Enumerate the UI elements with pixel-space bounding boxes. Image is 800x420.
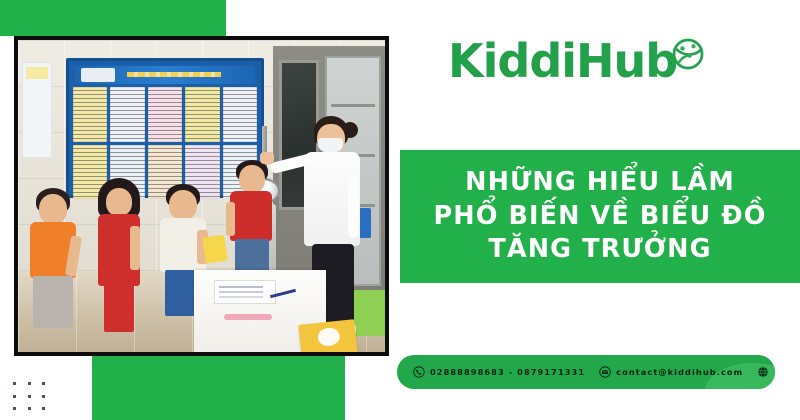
photo-yellow-folder xyxy=(298,319,357,352)
footer-email[interactable]: contact@kiddihub.com xyxy=(599,366,743,378)
footer-phone-text: 02888898683 - 0879171331 xyxy=(430,367,585,377)
phone-icon xyxy=(413,366,425,378)
child-arm xyxy=(226,202,235,236)
decor-dot xyxy=(42,382,45,385)
photo-poster xyxy=(223,87,257,142)
child-legs xyxy=(33,276,73,328)
decor-dot xyxy=(13,407,16,410)
photo-yellow-card xyxy=(202,235,227,264)
nurse-lowered-arm xyxy=(348,176,359,238)
child-torso xyxy=(230,191,272,241)
photo-table xyxy=(194,270,326,352)
photo-child-orange-shirt xyxy=(24,188,86,352)
decor-top-green-bar xyxy=(0,0,226,36)
decor-dot-grid xyxy=(8,377,52,415)
brand-logo-text: KiddiHub xyxy=(448,38,677,84)
decor-dot xyxy=(28,407,31,410)
page-title: NHỮNG HIỂU LẦM PHỔ BIẾN VỀ BIỂU ĐỒ TĂNG … xyxy=(433,166,766,267)
photo-poster xyxy=(73,87,107,142)
photo-child-red-dress xyxy=(92,178,148,352)
child-head xyxy=(239,165,265,193)
photo-cabinet-shelf xyxy=(331,104,375,107)
child-head xyxy=(106,188,132,216)
decor-dot xyxy=(13,395,16,398)
photo-pink-strip xyxy=(224,314,272,320)
nurse-hand xyxy=(260,152,274,164)
decor-bottom-green-bar xyxy=(92,355,345,420)
child-arm xyxy=(130,226,140,270)
photo-poster xyxy=(185,87,219,142)
decor-dot xyxy=(28,395,31,398)
decor-dot xyxy=(28,382,31,385)
photo-poster xyxy=(110,87,144,142)
clinic-photo xyxy=(18,40,385,352)
child-legs xyxy=(104,284,134,332)
photo-wall-panel xyxy=(22,62,52,158)
footer-website[interactable]: kiddihub.com xyxy=(757,366,775,378)
decor-dot xyxy=(42,395,45,398)
child-head xyxy=(169,190,197,220)
globe-icon xyxy=(757,366,769,378)
decor-dot xyxy=(42,407,45,410)
photo-growth-chart-paper xyxy=(214,280,276,304)
photo-frame xyxy=(14,36,389,356)
mail-icon xyxy=(599,366,611,378)
decor-dot xyxy=(13,382,16,385)
footer-website-text: kiddihub.com xyxy=(774,367,775,377)
nurse-face-mask xyxy=(318,138,343,152)
child-head xyxy=(39,194,67,224)
footer-phone[interactable]: 02888898683 - 0879171331 xyxy=(413,366,585,378)
globe-people-icon xyxy=(671,37,705,71)
footer-contact-bar: 02888898683 - 0879171331 contact@kiddihu… xyxy=(397,355,775,389)
photo-board-header xyxy=(75,66,255,84)
brand-logo[interactable]: KiddiHub xyxy=(448,34,705,88)
footer-email-text: contact@kiddihub.com xyxy=(616,367,743,377)
title-panel: NHỮNG HIỂU LẦM PHỔ BIẾN VỀ BIỂU ĐỒ TĂNG … xyxy=(400,150,800,283)
photo-poster xyxy=(148,87,182,142)
poster-canvas: KiddiHub NHỮNG HIỂU LẦM PHỔ BIẾN VỀ BIỂU… xyxy=(0,0,800,420)
